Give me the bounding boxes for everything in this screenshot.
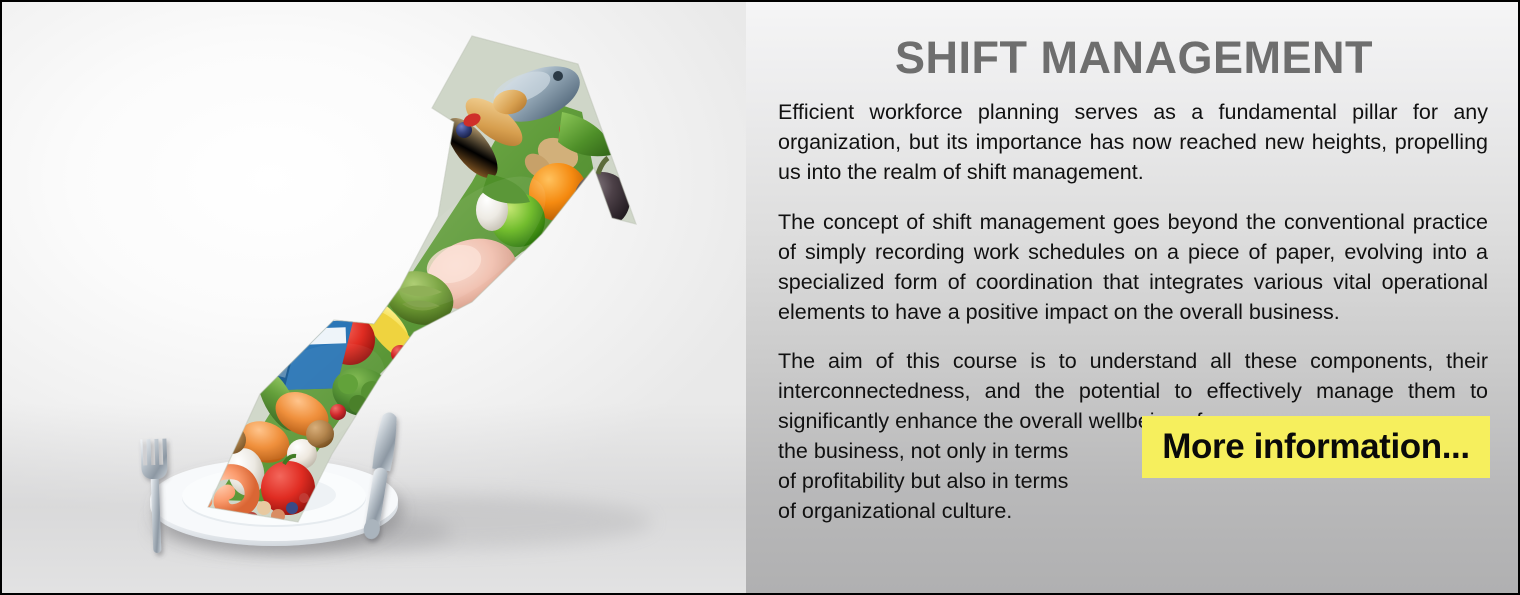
purple-grapes-item (200, 374, 248, 414)
promo-banner: SHIFT MANAGEMENT Efficient workforce pla… (0, 0, 1520, 595)
green-grapes-item (226, 328, 278, 372)
salmon-item (309, 247, 386, 313)
healthy-food-arrow-illustration (2, 2, 746, 593)
page-title: SHIFT MANAGEMENT (746, 2, 1520, 81)
more-information-button[interactable]: More information... (1142, 416, 1490, 478)
bean-item (257, 501, 271, 515)
paragraph-3-tail: the business, not only in terms of profi… (778, 436, 1130, 526)
cheese-item (267, 236, 338, 301)
paragraph-1: Efficient workforce planning serves as a… (778, 97, 1488, 187)
eggplant-item (574, 172, 630, 228)
tail-line-2: of profitability but also in terms (778, 466, 1130, 496)
tail-line-1: the business, not only in terms (778, 436, 1130, 466)
paragraph-2: The concept of shift management goes bey… (778, 207, 1488, 327)
text-panel: SHIFT MANAGEMENT Efficient workforce pla… (746, 2, 1520, 593)
hero-image-panel (2, 2, 746, 593)
tail-line-3: of organizational culture. (778, 496, 1130, 526)
food-arrow-mass (200, 36, 646, 524)
raw-meat-item (229, 261, 303, 328)
